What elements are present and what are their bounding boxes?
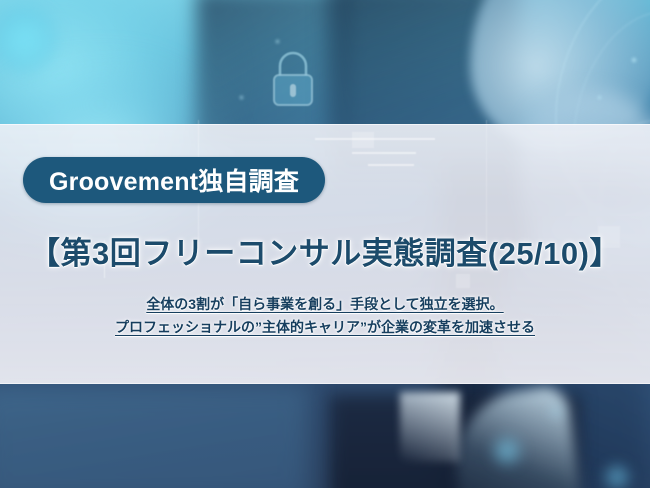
banner-title: 【第3回フリーコンサル実態調査(25/10)】 (0, 228, 650, 273)
survey-source-badge: Groovement独自調査 (23, 157, 325, 203)
banner-subtitle-line-1: 全体の3割が「自ら事業を創る」手段として独立を選択。 (0, 293, 650, 316)
survey-banner: Groovement独自調査 【第3回フリーコンサル実態調査(25/10)】 全… (0, 0, 650, 488)
banner-subtitle-line-2: プロフェッショナルの”主体的キャリア”が企業の変革を加速させる (0, 316, 650, 339)
banner-content: Groovement独自調査 【第3回フリーコンサル実態調査(25/10)】 全… (0, 0, 650, 488)
banner-subtitle: 全体の3割が「自ら事業を創る」手段として独立を選択。 プロフェッショナルの”主体… (0, 293, 650, 339)
